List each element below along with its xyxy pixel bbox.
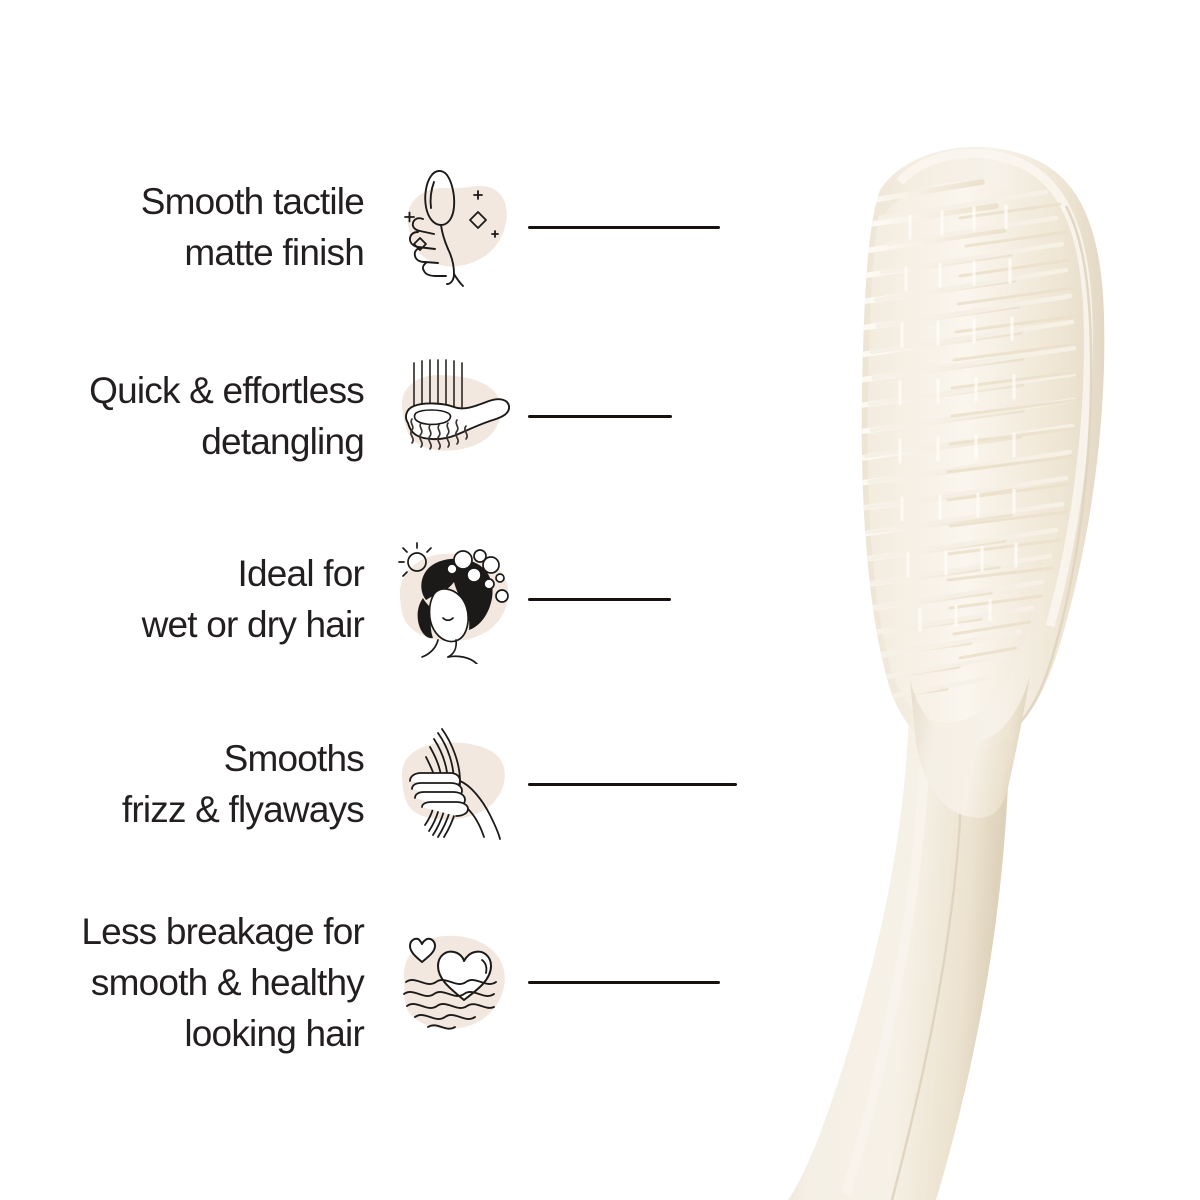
- leader-line: [528, 783, 737, 786]
- brush-detangling-hair-icon: [390, 351, 520, 481]
- feature-label: Ideal for wet or dry hair: [0, 548, 390, 650]
- leader-line: [528, 226, 720, 229]
- product-feature-infographic: Smooth tactile matte finish: [0, 0, 1200, 1200]
- brush-bristle-pad: [868, 182, 1066, 723]
- feature-row-ideal-for-wet-or-dry-hair: Ideal for wet or dry hair: [0, 534, 830, 664]
- leader-line: [528, 415, 672, 418]
- leader-line: [528, 598, 671, 601]
- feature-label: Smooths frizz & flyaways: [0, 733, 390, 835]
- feature-row-less-breakage-healthy-hair: Less breakage for smooth & healthy looki…: [0, 906, 830, 1059]
- feature-label: Smooth tactile matte finish: [0, 176, 390, 278]
- feature-row-smooths-frizz-flyaways: Smooths frizz & flyaways: [0, 719, 830, 849]
- hand-holding-brush-sparkle-icon: [390, 162, 520, 292]
- brush-head-shell: [862, 147, 1105, 753]
- heart-over-hair-waves-icon: [390, 918, 520, 1048]
- feature-row-smooth-tactile-matte-finish: Smooth tactile matte finish: [0, 162, 830, 292]
- hand-smoothing-hair-strand-icon: [390, 719, 520, 849]
- feature-label: Quick & effortless detangling: [0, 365, 390, 467]
- feature-label: Less breakage for smooth & healthy looki…: [0, 906, 390, 1059]
- woman-washing-hair-bubbles-icon: [390, 534, 520, 664]
- feature-row-quick-effortless-detangling: Quick & effortless detangling: [0, 351, 830, 481]
- leader-line: [528, 981, 720, 984]
- brush-handle: [788, 596, 1009, 1200]
